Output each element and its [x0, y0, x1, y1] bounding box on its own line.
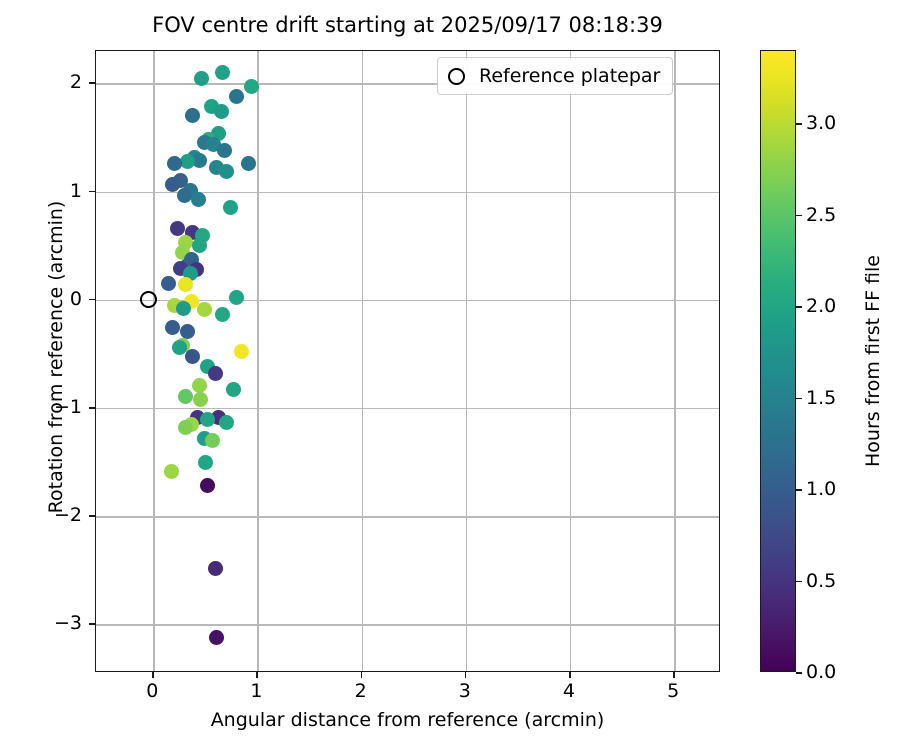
- scatter-point: [229, 89, 244, 104]
- y-tick-mark: [89, 407, 95, 409]
- scatter-point: [170, 221, 185, 236]
- colorbar-tick-label: 0.5: [806, 570, 836, 592]
- gridline-horizontal: [96, 624, 719, 625]
- colorbar-tick-mark: [796, 489, 802, 491]
- gridline-vertical: [674, 51, 675, 671]
- scatter-point: [217, 143, 232, 158]
- colorbar-tick-label: 2.5: [806, 204, 836, 226]
- gridline-horizontal: [96, 408, 719, 409]
- scatter-point: [185, 349, 200, 364]
- x-tick-label: 1: [226, 680, 286, 702]
- scatter-point: [215, 307, 230, 322]
- gridline-vertical: [466, 51, 467, 671]
- scatter-point: [197, 302, 212, 317]
- scatter-point: [176, 301, 191, 316]
- x-tick-mark: [256, 672, 258, 678]
- x-tick-mark: [361, 672, 363, 678]
- x-tick-mark: [673, 672, 675, 678]
- scatter-point: [208, 366, 223, 381]
- scatter-point: [226, 382, 241, 397]
- gridline-horizontal: [96, 516, 719, 517]
- scatter-point: [178, 420, 193, 435]
- x-tick-mark: [465, 672, 467, 678]
- scatter-point: [215, 65, 230, 80]
- colorbar-tick-label: 3.0: [806, 112, 836, 134]
- y-tick-mark: [89, 623, 95, 625]
- x-tick-label: 4: [539, 680, 599, 702]
- scatter-point: [229, 290, 244, 305]
- colorbar-gradient: [760, 50, 796, 672]
- scatter-point: [208, 561, 223, 576]
- colorbar-tick-mark: [796, 398, 802, 400]
- page-title: FOV centre drift starting at 2025/09/17 …: [95, 12, 720, 38]
- x-tick-mark: [152, 672, 154, 678]
- x-tick-mark: [569, 672, 571, 678]
- colorbar-tick-label: 2.0: [806, 295, 836, 317]
- gridline-vertical: [153, 51, 154, 671]
- scatter-point: [214, 104, 229, 119]
- gridline-vertical: [570, 51, 571, 671]
- scatter-point: [192, 378, 207, 393]
- scatter-point: [178, 389, 193, 404]
- scatter-point: [164, 464, 179, 479]
- colorbar[interactable]: [760, 50, 796, 672]
- scatter-point: [219, 415, 234, 430]
- x-tick-label: 0: [122, 680, 182, 702]
- x-tick-label: 2: [331, 680, 391, 702]
- scatter-point: [194, 71, 209, 86]
- scatter-point: [180, 324, 195, 339]
- legend[interactable]: Reference platepar: [437, 57, 673, 95]
- colorbar-tick-mark: [796, 306, 802, 308]
- scatter-point: [223, 200, 238, 215]
- scatter-point: [198, 455, 213, 470]
- colorbar-tick-label: 1.0: [806, 478, 836, 500]
- scatter-point: [185, 108, 200, 123]
- scatter-point: [191, 192, 206, 207]
- colorbar-tick-mark: [796, 581, 802, 583]
- scatter-point: [165, 320, 180, 335]
- scatter-point: [244, 79, 259, 94]
- x-axis-label: Angular distance from reference (arcmin): [95, 708, 720, 732]
- legend-entry-label: Reference platepar: [479, 65, 660, 87]
- y-tick-mark: [89, 299, 95, 301]
- scatter-point: [209, 630, 224, 645]
- scatter-point: [167, 156, 182, 171]
- colorbar-label: Hours from first FF file: [861, 50, 885, 672]
- y-axis-label: Rotation from reference (arcmin): [44, 46, 68, 668]
- scatter-point: [180, 154, 195, 169]
- scatter-point: [161, 276, 176, 291]
- y-tick-mark: [89, 191, 95, 193]
- scatter-point: [200, 412, 215, 427]
- reference-platepar-marker[interactable]: [140, 291, 157, 308]
- scatter-point: [178, 277, 193, 292]
- plot-area[interactable]: [95, 50, 720, 672]
- colorbar-tick-mark: [796, 672, 802, 674]
- colorbar-tick-label: 0.0: [806, 661, 836, 683]
- scatter-point: [165, 177, 180, 192]
- scatter-point: [234, 344, 249, 359]
- y-tick-mark: [89, 82, 95, 84]
- gridline-vertical: [257, 51, 258, 671]
- colorbar-tick-mark: [796, 215, 802, 217]
- x-tick-label: 3: [435, 680, 495, 702]
- colorbar-tick-mark: [796, 123, 802, 125]
- scatter-point: [193, 392, 208, 407]
- scatter-point: [200, 478, 215, 493]
- legend-marker-open-circle-icon: [448, 68, 465, 85]
- scatter-point: [205, 433, 220, 448]
- gridline-vertical: [362, 51, 363, 671]
- x-tick-label: 5: [643, 680, 703, 702]
- y-tick-mark: [89, 515, 95, 517]
- colorbar-tick-label: 1.5: [806, 387, 836, 409]
- figure-canvas: FOV centre drift starting at 2025/09/17 …: [0, 0, 900, 750]
- scatter-point: [219, 164, 234, 179]
- scatter-point: [241, 156, 256, 171]
- scatter-point: [192, 238, 207, 253]
- scatter-point: [177, 188, 192, 203]
